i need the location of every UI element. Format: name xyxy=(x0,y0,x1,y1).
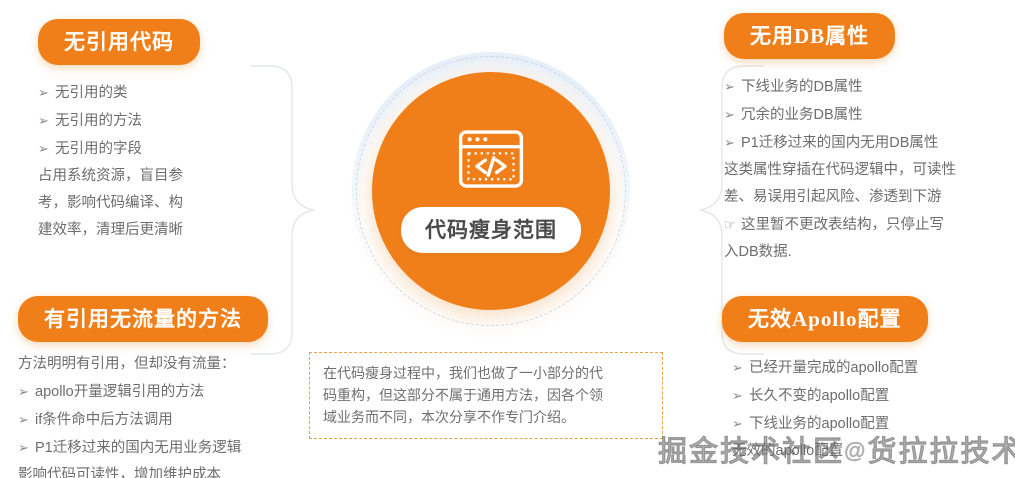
bullet-arrow-icon: ➢ xyxy=(18,378,35,405)
bullet-arrow-icon: ➢ xyxy=(38,135,55,162)
note-line: 在代码瘦身过程中，我们也做了一小部分的代 xyxy=(323,362,649,384)
list-item-text: 下线业务的DB属性 xyxy=(741,79,863,95)
paragraph-text: 建效率，清理后更清晰 xyxy=(38,222,183,238)
list-item-text: if条件命中后方法调用 xyxy=(35,412,173,428)
quadrant-top-right: 无用DB属性 ➢下线业务的DB属性 ➢冗余的业务DB属性 ➢P1迁移过来的国内无… xyxy=(724,13,956,266)
bullet-arrow-icon: ➢ xyxy=(732,354,749,381)
paragraph-line: 占用系统资源，盲目参 xyxy=(38,163,200,190)
list-item: ➢apollo开量逻辑引用的方法 xyxy=(18,378,268,406)
list-item: ➢已经开量完成的apollo配置 xyxy=(732,354,928,382)
list-item-pointer: ☞这里暂不更改表结构，只停止写 xyxy=(724,211,956,239)
paragraph-line: 差、易误用引起风险、渗透到下游 xyxy=(724,184,956,211)
bottom-left-pill-wrap: 有引用无流量的方法 xyxy=(18,296,268,342)
list-item: ➢if条件命中后方法调用 xyxy=(18,406,268,434)
paragraph-line: 这类属性穿插在代码逻辑中，可读性 xyxy=(724,157,956,184)
list-item-text: P1迁移过来的国内无用业务逻辑 xyxy=(35,440,241,456)
list-item-text: 冗余的业务DB属性 xyxy=(741,107,863,123)
bullet-arrow-icon: ➢ xyxy=(38,107,55,134)
paragraph-line: 考，影响代码编译、构 xyxy=(38,190,200,217)
paragraph-text: 差、易误用引起风险、渗透到下游 xyxy=(724,189,942,205)
bullet-arrow-icon: ➢ xyxy=(732,382,749,409)
note-box: 在代码瘦身过程中，我们也做了一小部分的代 码重构，但这部分不属于通用方法，因各个… xyxy=(309,352,663,439)
top-right-pill-wrap: 无用DB属性 xyxy=(724,13,956,59)
bullet-arrow-icon: ➢ xyxy=(18,406,35,433)
top-left-lines: ➢无引用的类 ➢无引用的方法 ➢无引用的字段 占用系统资源，盲目参 考，影响代码… xyxy=(38,79,200,244)
bullet-arrow-icon: ➢ xyxy=(724,73,741,100)
list-item: ➢长久不变的apollo配置 xyxy=(732,382,928,410)
list-item-text: P1迁移过来的国内无用DB属性 xyxy=(741,135,938,151)
bottom-left-lines: 方法明明有引用，但却没有流量： ➢apollo开量逻辑引用的方法 ➢if条件命中… xyxy=(18,351,268,478)
code-window-icon xyxy=(455,123,527,195)
list-item: ➢P1迁移过来的国内无用业务逻辑 xyxy=(18,434,268,462)
note-line: 码重构，但这部分不属于通用方法，因各个领 xyxy=(323,384,649,406)
bullet-arrow-icon: ➢ xyxy=(724,101,741,128)
bullet-arrow-icon: ➢ xyxy=(732,410,749,437)
list-item: ➢P1迁移过来的国内无用DB属性 xyxy=(724,129,956,157)
list-item: ➢冗余的业务DB属性 xyxy=(724,101,956,129)
paragraph-text: 这类属性穿插在代码逻辑中，可读性 xyxy=(724,162,956,178)
quadrant-bottom-right: 无效Apollo配置 ➢已经开量完成的apollo配置 ➢长久不变的apollo… xyxy=(722,296,928,465)
list-item: ➢无引用的字段 xyxy=(38,135,200,163)
list-item-text: 无引用的方法 xyxy=(55,113,142,129)
list-item-text: 已经开量完成的apollo配置 xyxy=(749,360,918,376)
top-right-lines: ➢下线业务的DB属性 ➢冗余的业务DB属性 ➢P1迁移过来的国内无用DB属性 这… xyxy=(724,73,956,266)
quadrant-top-left: 无引用代码 ➢无引用的类 ➢无引用的方法 ➢无引用的字段 占用系统资源，盲目参 … xyxy=(38,19,200,244)
list-item: ➢无引用的方法 xyxy=(38,107,200,135)
paragraph-text: 考，影响代码编译、构 xyxy=(38,195,183,211)
bullet-arrow-icon: ➢ xyxy=(38,79,55,106)
bottom-left-title[interactable]: 有引用无流量的方法 xyxy=(18,296,268,342)
paragraph-line: 建效率，清理后更清晰 xyxy=(38,217,200,244)
list-item: ➢下线业务的apollo配置 xyxy=(732,410,928,438)
paragraph-text: 影响代码可读性，增加维护成本 xyxy=(18,467,221,478)
paragraph-text: 入DB数据. xyxy=(724,244,792,260)
bullet-arrow-icon: ➢ xyxy=(724,129,741,156)
paragraph-line: 入DB数据. xyxy=(724,239,956,266)
top-right-title[interactable]: 无用DB属性 xyxy=(724,13,895,59)
bullet-arrow-icon: ➢ xyxy=(18,434,35,461)
list-item-text: 无引用的字段 xyxy=(55,141,142,157)
note-line: 域业务而不同，本次分享不作专门介绍。 xyxy=(323,406,649,428)
list-item-text: 长久不变的apollo配置 xyxy=(749,388,889,404)
paragraph-text: 占用系统资源，盲目参 xyxy=(38,168,183,184)
list-item-text: 下线业务的apollo配置 xyxy=(749,416,889,432)
list-item-text: apollo开量逻辑引用的方法 xyxy=(35,384,204,400)
pointing-hand-icon: ☞ xyxy=(724,211,741,238)
top-left-pill-wrap: 无引用代码 xyxy=(38,19,200,65)
list-item-text: 这里暂不更改表结构，只停止写 xyxy=(741,217,944,233)
paragraph-line: 无效的apollo配置 xyxy=(732,438,928,465)
list-item: ➢下线业务的DB属性 xyxy=(724,73,956,101)
infographic-canvas: 代码瘦身范围 无引用代码 ➢无引用的类 ➢无引用的方法 ➢无引用的字段 占用系统… xyxy=(0,0,1015,478)
center-label: 代码瘦身范围 xyxy=(401,207,581,253)
list-item-text: 无引用的类 xyxy=(55,85,128,101)
paragraph-line: 方法明明有引用，但却没有流量： xyxy=(18,351,268,378)
paragraph-text: 方法明明有引用，但却没有流量： xyxy=(18,356,236,372)
list-item: ➢无引用的类 xyxy=(38,79,200,107)
paragraph-line: 影响代码可读性，增加维护成本 xyxy=(18,462,268,478)
paragraph-text: 无效的apollo配置 xyxy=(732,443,843,459)
bottom-right-pill-wrap: 无效Apollo配置 xyxy=(722,296,928,342)
quadrant-bottom-left: 有引用无流量的方法 方法明明有引用，但却没有流量： ➢apollo开量逻辑引用的… xyxy=(18,296,268,478)
center-node[interactable]: 代码瘦身范围 xyxy=(372,72,610,310)
bottom-right-title[interactable]: 无效Apollo配置 xyxy=(722,296,928,342)
top-left-title[interactable]: 无引用代码 xyxy=(38,19,200,65)
bottom-right-lines: ➢已经开量完成的apollo配置 ➢长久不变的apollo配置 ➢下线业务的ap… xyxy=(732,354,928,465)
